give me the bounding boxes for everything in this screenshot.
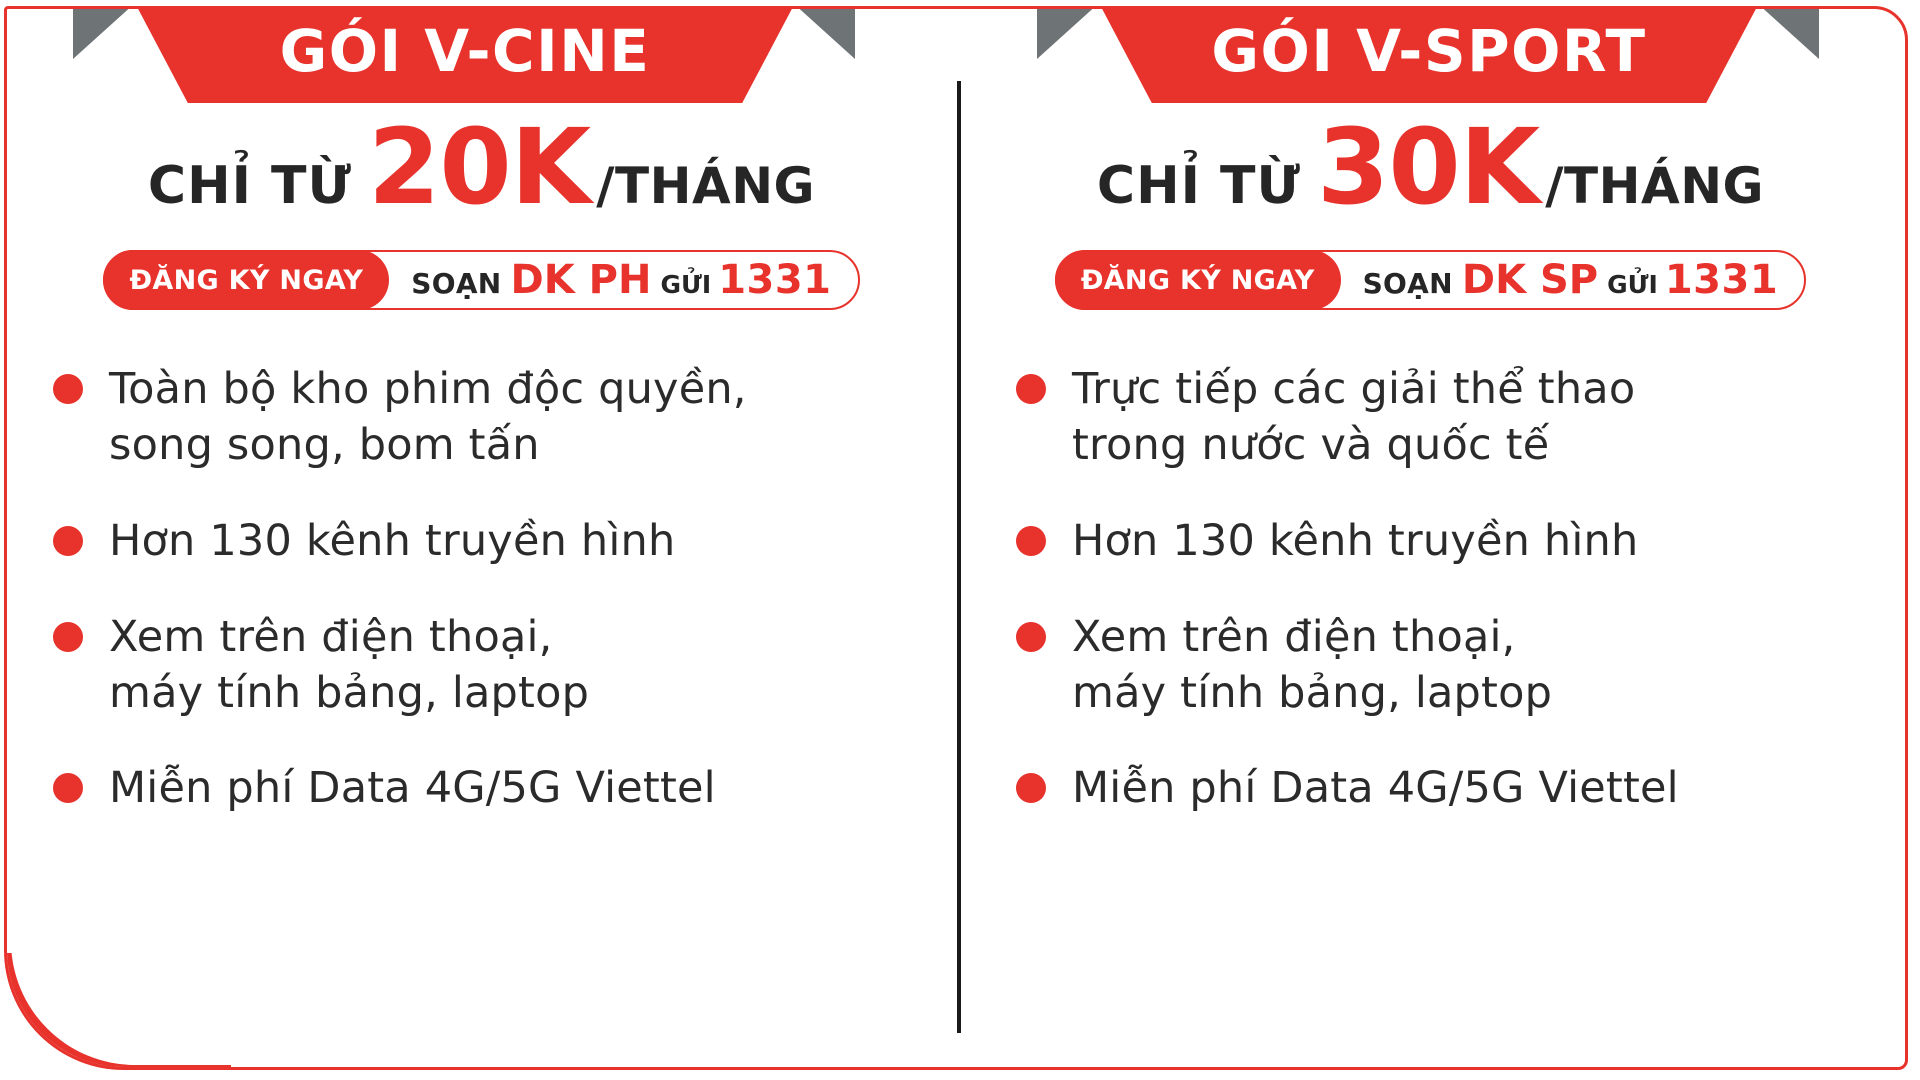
- price-period: /THÁNG: [1545, 157, 1764, 215]
- sms-code: DK PH: [511, 257, 652, 303]
- feature-list-v-sport: Trực tiếp các giải thể thao trong nước v…: [1016, 362, 1905, 817]
- price-amount: 20K: [368, 121, 590, 215]
- bullet-icon: [1016, 374, 1046, 404]
- feature-text: Xem trên điện thoại, máy tính bảng, lapt…: [1072, 610, 1552, 722]
- register-cta-button[interactable]: ĐĂNG KÝ NGAY: [1055, 250, 1341, 310]
- price-row-v-sport: CHỈ TỪ 30K /THÁNG: [956, 121, 1905, 216]
- price-amount: 30K: [1317, 121, 1539, 215]
- bullet-icon: [53, 773, 83, 803]
- bullet-icon: [53, 622, 83, 652]
- list-item: Hơn 130 kênh truyền hình: [1016, 514, 1905, 570]
- sms-instruction: SOẠN DK SP GỬI 1331: [1341, 257, 1779, 303]
- feature-list-v-cine: Toàn bộ kho phim độc quyền, song song, b…: [53, 362, 956, 817]
- list-item: Miễn phí Data 4G/5G Viettel: [1016, 761, 1905, 817]
- register-badge-row-v-cine: ĐĂNG KÝ NGAY SOẠN DK PH GỬI 1331: [7, 250, 956, 310]
- register-cta-button[interactable]: ĐĂNG KÝ NGAY: [103, 250, 389, 310]
- sms-shortcode: 1331: [718, 257, 831, 303]
- bullet-icon: [53, 526, 83, 556]
- feature-text: Xem trên điện thoại, máy tính bảng, lapt…: [109, 610, 589, 722]
- bullet-icon: [1016, 526, 1046, 556]
- feature-text: Trực tiếp các giải thể thao trong nước v…: [1072, 362, 1635, 474]
- list-item: Toàn bộ kho phim độc quyền, song song, b…: [53, 362, 956, 474]
- sms-shortcode: 1331: [1665, 257, 1778, 303]
- sms-send-label: GỬI: [1607, 270, 1658, 299]
- feature-text: Toàn bộ kho phim độc quyền, song song, b…: [109, 362, 747, 474]
- bullet-icon: [53, 374, 83, 404]
- bullet-icon: [1016, 622, 1046, 652]
- feature-text: Miễn phí Data 4G/5G Viettel: [109, 761, 716, 817]
- package-card-v-sport: CHỈ TỪ 30K /THÁNG ĐĂNG KÝ NGAY SOẠN DK S…: [956, 9, 1905, 1067]
- register-badge-v-sport[interactable]: ĐĂNG KÝ NGAY SOẠN DK SP GỬI 1331: [1055, 250, 1806, 310]
- package-card-v-cine: CHỈ TỪ 20K /THÁNG ĐĂNG KÝ NGAY SOẠN DK P…: [7, 9, 956, 1067]
- feature-text: Hơn 130 kênh truyền hình: [109, 514, 675, 570]
- list-item: Hơn 130 kênh truyền hình: [53, 514, 956, 570]
- sms-compose-label: SOẠN: [1363, 267, 1453, 300]
- sms-send-label: GỬI: [660, 270, 711, 299]
- sms-instruction: SOẠN DK PH GỬI 1331: [389, 257, 831, 303]
- bullet-icon: [1016, 773, 1046, 803]
- list-item: Trực tiếp các giải thể thao trong nước v…: [1016, 362, 1905, 474]
- price-prefix: CHỈ TỪ: [1097, 156, 1301, 216]
- list-item: Miễn phí Data 4G/5G Viettel: [53, 761, 956, 817]
- price-row-v-cine: CHỈ TỪ 20K /THÁNG: [7, 121, 956, 216]
- sms-compose-label: SOẠN: [411, 267, 501, 300]
- register-badge-row-v-sport: ĐĂNG KÝ NGAY SOẠN DK SP GỬI 1331: [956, 250, 1905, 310]
- sms-code: DK SP: [1462, 257, 1598, 303]
- register-badge-v-cine[interactable]: ĐĂNG KÝ NGAY SOẠN DK PH GỬI 1331: [103, 250, 859, 310]
- promo-card: GÓI V-CINE GÓI V-SPORT CHỈ TỪ 20K /THÁNG…: [4, 6, 1908, 1070]
- list-item: Xem trên điện thoại, máy tính bảng, lapt…: [1016, 610, 1905, 722]
- feature-text: Hơn 130 kênh truyền hình: [1072, 514, 1638, 570]
- price-period: /THÁNG: [596, 157, 815, 215]
- feature-text: Miễn phí Data 4G/5G Viettel: [1072, 761, 1679, 817]
- price-prefix: CHỈ TỪ: [148, 156, 352, 216]
- list-item: Xem trên điện thoại, máy tính bảng, lapt…: [53, 610, 956, 722]
